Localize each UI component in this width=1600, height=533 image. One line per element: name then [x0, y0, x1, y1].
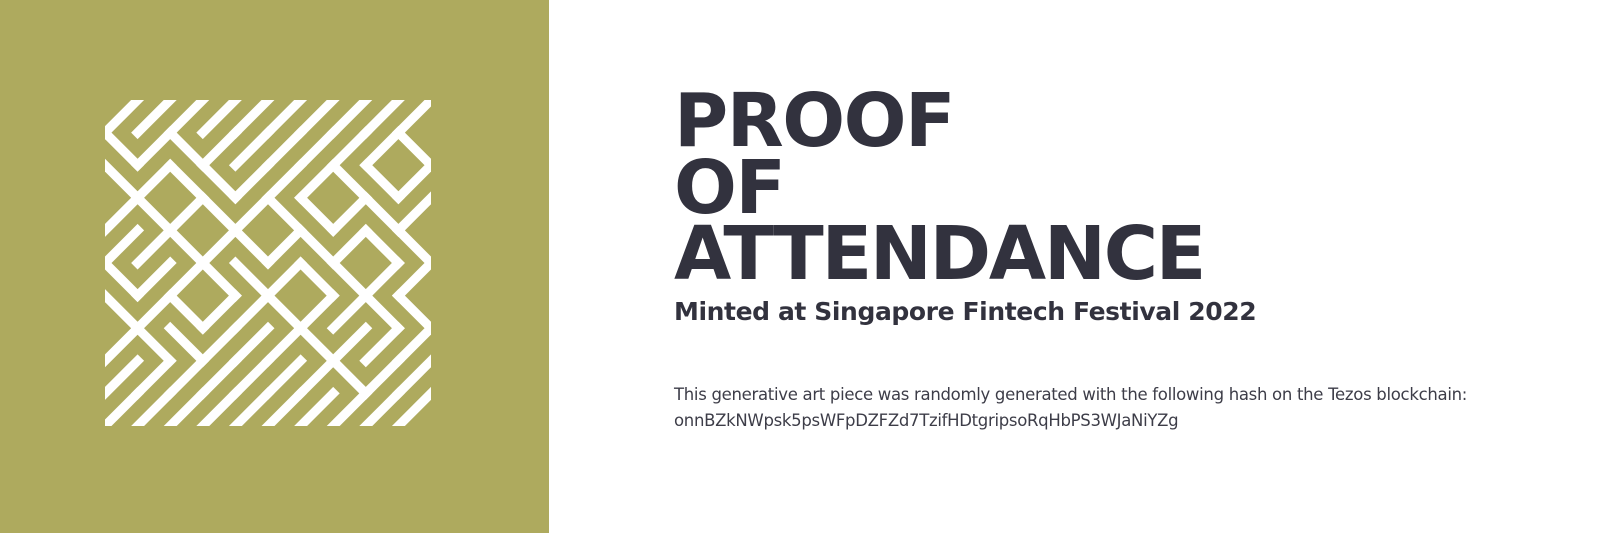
proof-of-attendance-certificate: PROOF OF ATTENDANCE Minted at Singapore …	[0, 0, 1600, 533]
blockchain-hash-value: onnBZkNWpsk5psWFpDZFZd7TzifHDtgripsoRqHb…	[674, 408, 1504, 434]
content-panel: PROOF OF ATTENDANCE Minted at Singapore …	[549, 0, 1600, 533]
description-intro-text: This generative art piece was randomly g…	[674, 385, 1467, 404]
title-line-1: PROOF	[674, 88, 1574, 155]
title-line-3: ATTENDANCE	[674, 221, 1574, 288]
generative-art-panel	[0, 0, 549, 533]
ten-print-maze-art	[105, 100, 431, 426]
event-subtitle: Minted at Singapore Fintech Festival 202…	[674, 297, 1256, 326]
page-title: PROOF OF ATTENDANCE	[674, 88, 1574, 288]
hash-description: This generative art piece was randomly g…	[674, 382, 1504, 433]
